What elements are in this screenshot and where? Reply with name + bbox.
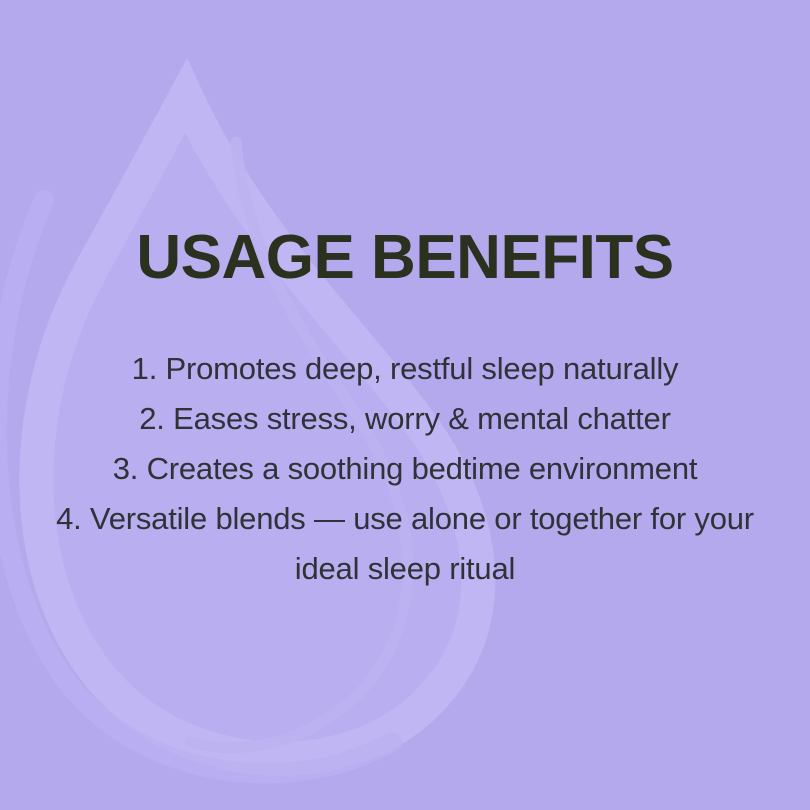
slide-content: USAGE BENEFITS 1. Promotes deep, restful…: [0, 0, 810, 810]
page-title: USAGE BENEFITS: [0, 225, 810, 290]
benefit-item-3: 3. Creates a soothing bedtime environmen…: [50, 444, 760, 494]
benefits-list: 1. Promotes deep, restful sleep naturall…: [50, 344, 760, 594]
benefit-item-2: 2. Eases stress, worry & mental chatter: [50, 394, 760, 444]
usage-benefits-slide: USAGE BENEFITS 1. Promotes deep, restful…: [0, 0, 810, 810]
benefit-item-4: 4. Versatile blends — use alone or toget…: [50, 494, 760, 594]
benefit-item-1: 1. Promotes deep, restful sleep naturall…: [50, 344, 760, 394]
